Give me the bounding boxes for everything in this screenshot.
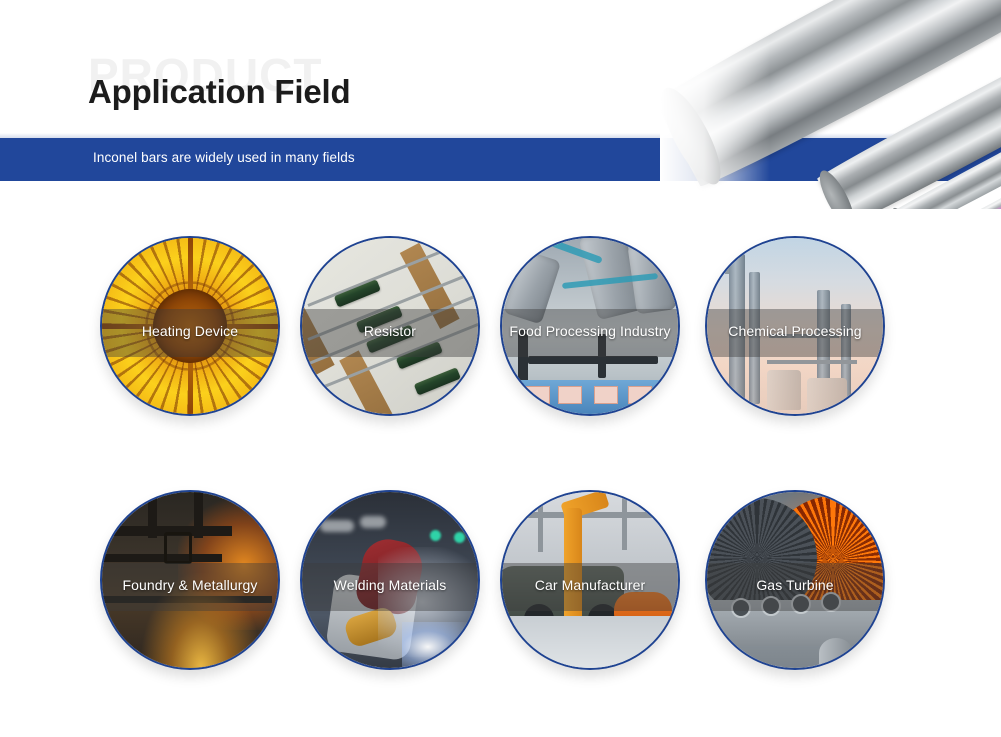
weld-arc <box>402 622 478 668</box>
card-heating-device[interactable]: Heating Device <box>100 236 280 416</box>
card-food-processing[interactable]: Food Processing Industry <box>500 236 680 416</box>
application-card-grid: Heating Device <box>0 0 1001 737</box>
card-label: Foundry & Metallurgy <box>78 561 302 609</box>
card-car-manufacturer[interactable]: Car Manufacturer <box>500 490 680 670</box>
machine-rail <box>528 356 658 364</box>
product-box <box>594 386 618 404</box>
steel-column <box>194 492 203 538</box>
product-box <box>628 386 652 404</box>
factory-post <box>538 492 543 552</box>
card-label: Heating Device <box>78 307 302 355</box>
factory-post <box>622 492 627 550</box>
turbine-tube <box>819 638 853 668</box>
card-chemical-processing[interactable]: Chemical Processing <box>705 236 885 416</box>
resistor-body <box>414 367 461 395</box>
card-label: Gas Turbine <box>683 561 907 609</box>
steel-column <box>148 498 157 538</box>
product-box <box>558 386 582 404</box>
resistor-lead <box>307 238 475 307</box>
indicator-light <box>430 530 441 541</box>
card-label: Welding Materials <box>278 561 502 609</box>
card-label: Resistor <box>278 307 502 355</box>
card-welding-materials[interactable]: Welding Materials <box>300 490 480 670</box>
card-gas-turbine[interactable]: Gas Turbine <box>705 490 885 670</box>
background-light <box>360 516 386 528</box>
card-resistor[interactable]: Resistor <box>300 236 480 416</box>
background-light <box>320 520 354 532</box>
card-label: Food Processing Industry <box>478 307 702 355</box>
factory-rail <box>502 512 678 518</box>
factory-floor <box>502 616 678 668</box>
card-label: Chemical Processing <box>683 307 907 355</box>
crane-hook <box>164 532 192 564</box>
slide-application-field: PRODUCT Application Field Inconel bars a… <box>0 0 1001 737</box>
card-foundry-metallurgy[interactable]: Foundry & Metallurgy <box>100 490 280 670</box>
turbine-tube <box>857 638 883 666</box>
card-label: Car Manufacturer <box>478 561 702 609</box>
indicator-light <box>454 532 465 543</box>
product-box <box>526 386 550 404</box>
